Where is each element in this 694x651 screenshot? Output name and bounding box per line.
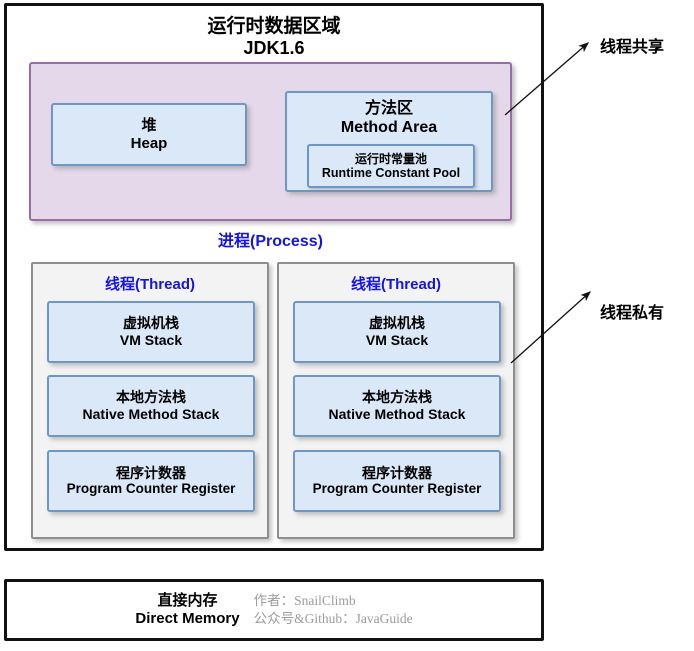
thread-2-title: 线程(Thread): [279, 273, 513, 294]
credit-author: 作者：SnailClimb: [254, 592, 413, 610]
annotation-thread-shared: 线程共享: [600, 33, 664, 57]
heap-box[interactable]: 堆 Heap: [51, 103, 247, 166]
thread-2-vm-stack[interactable]: 虚拟机栈 VM Stack: [293, 301, 501, 363]
runtime-data-area-frame: 运行时数据区域 JDK1.6 堆 Heap 方法区 Method Area 运行…: [4, 3, 544, 551]
thread-1-program-counter-register-cn: 程序计数器: [116, 465, 186, 482]
credits-block: 作者：SnailClimb 公众号&Github：JavaGuide: [254, 592, 413, 628]
thread-2-vm-stack-en: VM Stack: [366, 332, 428, 349]
constant-pool-label-cn: 运行时常量池: [355, 152, 427, 166]
thread-1-title: 线程(Thread): [33, 273, 267, 294]
process-label: 进程(Process): [29, 227, 512, 251]
thread-2-program-counter-register[interactable]: 程序计数器 Program Counter Register: [293, 450, 501, 512]
thread-2-native-method-stack-en: Native Method Stack: [329, 406, 466, 423]
thread-1-native-method-stack-en: Native Method Stack: [83, 406, 220, 423]
annotation-thread-private: 线程私有: [600, 299, 664, 323]
method-area-label-cn: 方法区: [365, 99, 413, 118]
thread-box-2[interactable]: 线程(Thread) 虚拟机栈 VM Stack 本地方法栈 Native Me…: [277, 262, 515, 539]
credit-account: 公众号&Github：JavaGuide: [254, 610, 413, 628]
thread-shared-region: 堆 Heap 方法区 Method Area 运行时常量池 Runtime Co…: [29, 62, 512, 221]
direct-memory-content: 直接内存 Direct Memory 作者：SnailClimb 公众号&Git…: [7, 582, 541, 638]
method-area-label-en: Method Area: [341, 118, 437, 137]
thread-1-vm-stack-cn: 虚拟机栈: [123, 315, 179, 332]
thread-2-vm-stack-cn: 虚拟机栈: [369, 315, 425, 332]
thread-2-program-counter-register-en: Program Counter Register: [313, 481, 482, 497]
thread-2-native-method-stack[interactable]: 本地方法栈 Native Method Stack: [293, 375, 501, 437]
diagram-canvas: 运行时数据区域 JDK1.6 堆 Heap 方法区 Method Area 运行…: [0, 0, 694, 651]
thread-1-native-method-stack-cn: 本地方法栈: [116, 389, 186, 406]
constant-pool-label-en: Runtime Constant Pool: [322, 166, 460, 181]
thread-box-1[interactable]: 线程(Thread) 虚拟机栈 VM Stack 本地方法栈 Native Me…: [31, 262, 269, 539]
thread-1-program-counter-register-en: Program Counter Register: [67, 481, 236, 497]
runtime-constant-pool-box[interactable]: 运行时常量池 Runtime Constant Pool: [307, 144, 475, 188]
thread-2-native-method-stack-cn: 本地方法栈: [362, 389, 432, 406]
method-area-box[interactable]: 方法区 Method Area 运行时常量池 Runtime Constant …: [285, 91, 493, 192]
direct-memory-label: 直接内存 Direct Memory: [135, 592, 239, 628]
thread-1-vm-stack[interactable]: 虚拟机栈 VM Stack: [47, 301, 255, 363]
heap-label-cn: 堆: [141, 117, 156, 135]
direct-memory-frame: 直接内存 Direct Memory 作者：SnailClimb 公众号&Git…: [4, 579, 544, 641]
thread-2-program-counter-register-cn: 程序计数器: [362, 465, 432, 482]
direct-memory-label-cn: 直接内存: [135, 592, 239, 610]
thread-1-native-method-stack[interactable]: 本地方法栈 Native Method Stack: [47, 375, 255, 437]
heap-label-en: Heap: [131, 135, 168, 153]
direct-memory-label-en: Direct Memory: [135, 610, 239, 628]
thread-1-program-counter-register[interactable]: 程序计数器 Program Counter Register: [47, 450, 255, 512]
thread-1-vm-stack-en: VM Stack: [120, 332, 182, 349]
runtime-title-cn: 运行时数据区域: [207, 16, 340, 37]
runtime-data-area-title: 运行时数据区域 JDK1.6: [7, 16, 541, 60]
runtime-title-version: JDK1.6: [7, 38, 541, 59]
